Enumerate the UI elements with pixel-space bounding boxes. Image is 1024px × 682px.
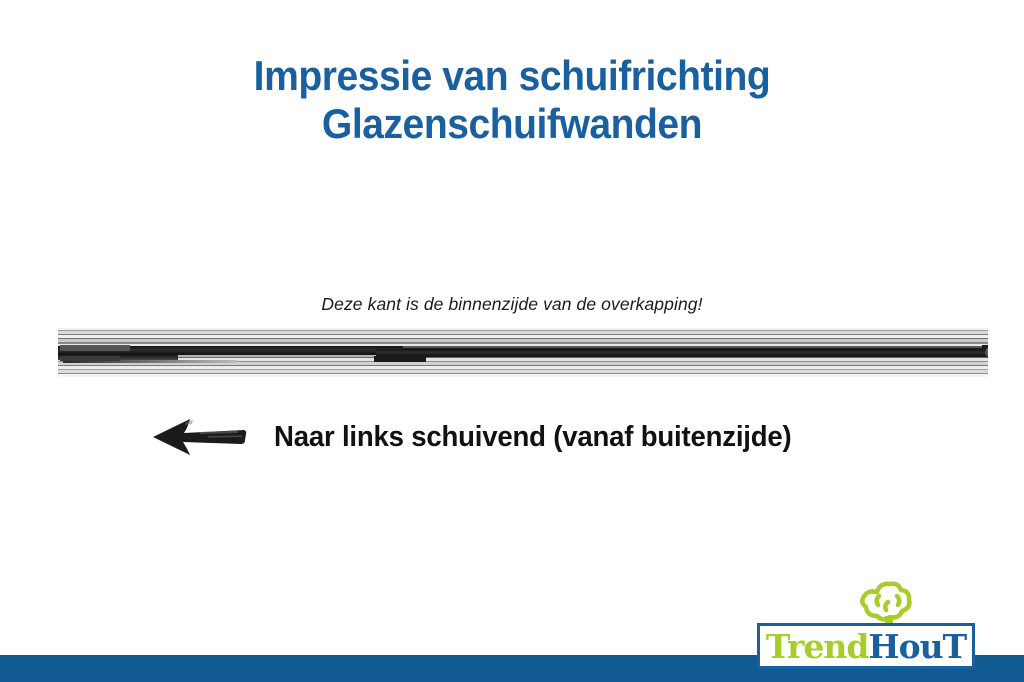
rail-end-stub-left-lower xyxy=(60,356,120,361)
slide-direction-row: Naar links schuivend (vanaf buitenzijde) xyxy=(150,415,819,459)
logo-word-trend: Trend xyxy=(766,627,869,666)
rail-panel-segment-b xyxy=(376,349,988,357)
page-title: Impressie van schuifrichting Glazenschui… xyxy=(0,52,1024,148)
inner-side-caption: Deze kant is de binnenzijde van de overk… xyxy=(0,294,1024,315)
logo-word-hout: HouT xyxy=(868,627,966,666)
rail-panel-edge-middle xyxy=(374,356,426,362)
sliding-wall-rail-image xyxy=(58,326,988,379)
logo-box: TrendHouT xyxy=(757,623,975,669)
trendhout-logo: TrendHouT xyxy=(757,578,975,674)
arrow-left-brush-icon xyxy=(150,415,248,459)
rail-end-stub-left-upper xyxy=(60,345,130,351)
title-line-2: Glazenschuifwanden xyxy=(36,100,988,148)
title-line-1: Impressie van schuifrichting xyxy=(36,52,988,100)
slide-direction-label: Naar links schuivend (vanaf buitenzijde) xyxy=(274,421,792,454)
